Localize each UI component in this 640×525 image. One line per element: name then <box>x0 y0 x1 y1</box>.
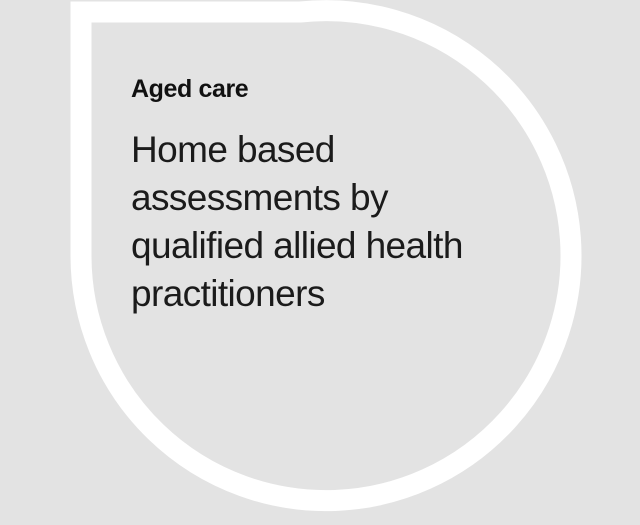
aged-care-card: Aged care Home based assessments by qual… <box>0 0 640 525</box>
card-text-block: Aged care Home based assessments by qual… <box>131 74 551 318</box>
card-eyebrow-label: Aged care <box>131 74 551 104</box>
card-headline: Home based assessments by qualified alli… <box>131 104 551 318</box>
